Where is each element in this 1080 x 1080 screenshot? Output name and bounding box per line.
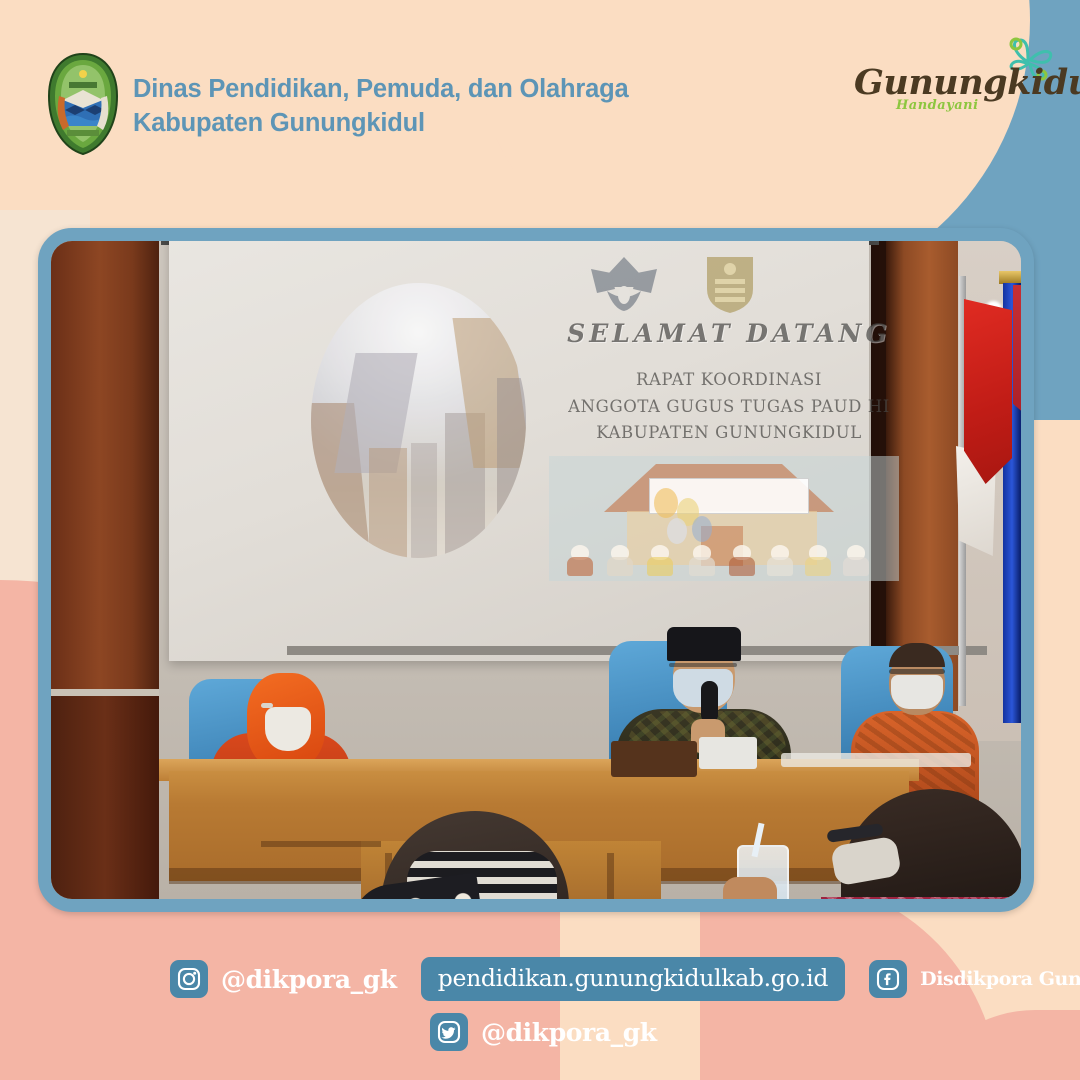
slide-line-3: KABUPATEN GUNUNGKIDUL (519, 420, 939, 447)
twitter-handle[interactable]: @dikpora_gk (481, 1018, 657, 1047)
page-title: Dinas Pendidikan, Pemuda, dan Olahraga K… (133, 73, 628, 140)
brand-tagline: Handayani (896, 98, 979, 113)
instagram-icon[interactable] (170, 960, 208, 998)
event-photo: SELAMAT DATANG RAPAT KOORDINASI ANGGOTA … (51, 241, 1021, 899)
projector-screen: SELAMAT DATANG RAPAT KOORDINASI ANGGOTA … (169, 241, 869, 661)
slide-welcome-text: SELAMAT DATANG (519, 319, 939, 348)
twitter-icon[interactable] (430, 1013, 468, 1051)
footer-row-primary: @dikpora_gk pendidikan.gunungkidulkab.go… (170, 957, 1080, 1001)
indonesia-flag-icon (964, 299, 1012, 484)
gunungkidul-brand-logo: Gunungkidul Handayani (848, 38, 1058, 128)
facebook-icon[interactable] (869, 960, 907, 998)
instagram-handle[interactable]: @dikpora_gk (221, 965, 397, 994)
tut-wuri-handayani-logo-icon (591, 257, 657, 311)
wood-panel-left (51, 241, 159, 711)
page-title-line2: Kabupaten Gunungkidul (133, 107, 628, 141)
slide-text: SELAMAT DATANG RAPAT KOORDINASI ANGGOTA … (519, 319, 939, 447)
slide-line-1: RAPAT KOORDINASI (519, 367, 939, 394)
poster-footer: @dikpora_gk pendidikan.gunungkidulkab.go… (0, 935, 1080, 1080)
event-photo-card: SELAMAT DATANG RAPAT KOORDINASI ANGGOTA … (38, 228, 1034, 912)
slide-logos (569, 253, 779, 315)
poster-canvas: Dinas Pendidikan, Pemuda, dan Olahraga K… (0, 0, 1080, 1080)
slide-line-2: ANGGOTA GUGUS TUGAS PAUD HI (519, 394, 939, 421)
facebook-page-name[interactable]: Disdikpora Gunungkidul (920, 968, 1080, 990)
wood-panel-divider (51, 689, 159, 696)
page-title-line1: Dinas Pendidikan, Pemuda, dan Olahraga (133, 73, 628, 107)
brand-wordmark: Gunungkidul (854, 62, 1080, 103)
gunungkidul-regency-crest-icon (47, 52, 119, 156)
gold-crest-logo-icon (707, 257, 753, 313)
website-badge[interactable]: pendidikan.gunungkidulkab.go.id (421, 957, 845, 1001)
poster-header: Dinas Pendidikan, Pemuda, dan Olahraga K… (0, 0, 1080, 200)
wood-panel-left-lower (51, 696, 159, 899)
skyscrapers-circle-photo-icon (311, 283, 526, 558)
school-house-illustration-icon (549, 456, 899, 581)
footer-row-twitter: @dikpora_gk (430, 1013, 657, 1051)
